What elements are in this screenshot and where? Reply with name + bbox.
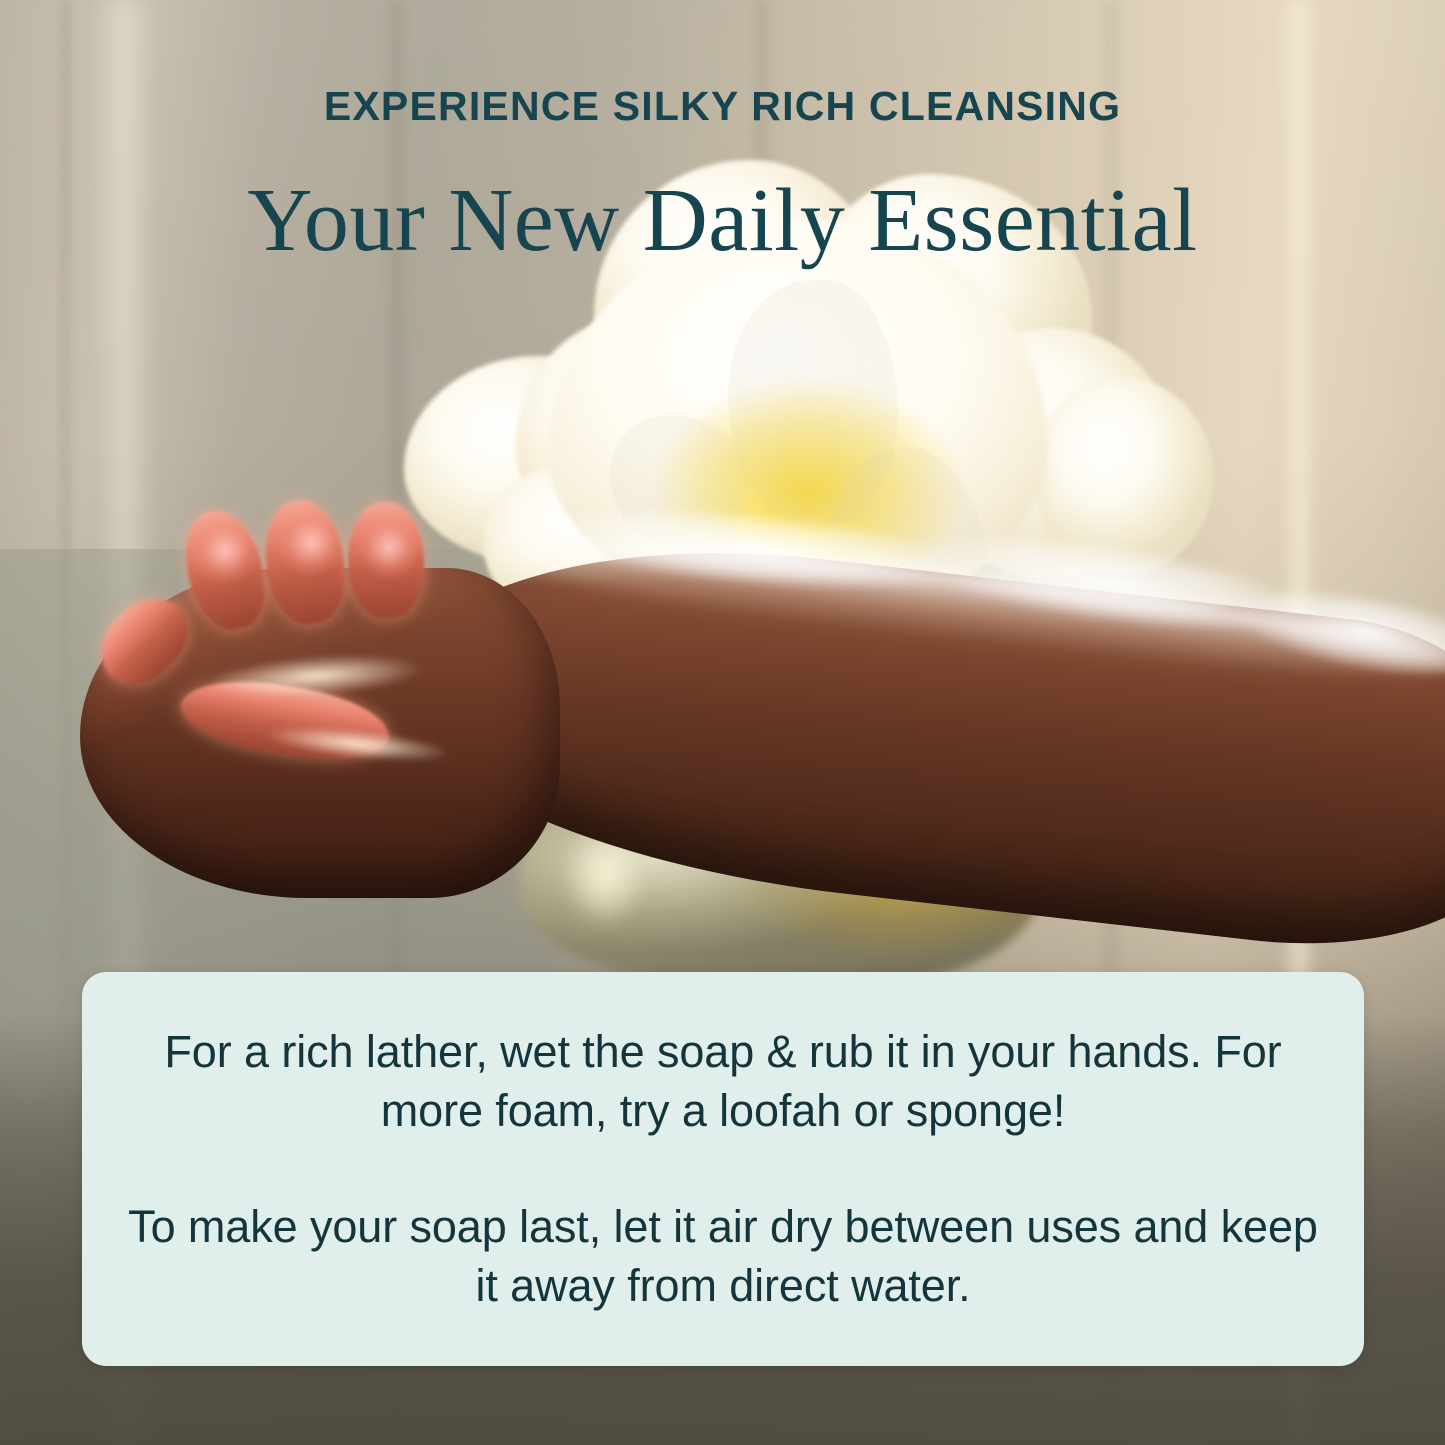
fingertip-glow-b <box>276 508 346 578</box>
tip-paragraph-lather: For a rich lather, wet the soap & rub it… <box>128 1023 1318 1140</box>
eyebrow-heading: EXPERIENCE SILKY RICH CLEANSING <box>0 86 1445 127</box>
usage-tips-card: For a rich lather, wet the soap & rub it… <box>82 972 1364 1366</box>
product-lifestyle-banner: EXPERIENCE SILKY RICH CLEANSING Your New… <box>0 0 1445 1445</box>
lathered-arm <box>70 498 1445 968</box>
fingertip-glow-c <box>356 514 422 580</box>
fingertip-glow-a <box>190 516 260 586</box>
tip-paragraph-care: To make your soap last, let it air dry b… <box>128 1198 1318 1315</box>
page-title: Your New Daily Essential <box>0 172 1445 269</box>
